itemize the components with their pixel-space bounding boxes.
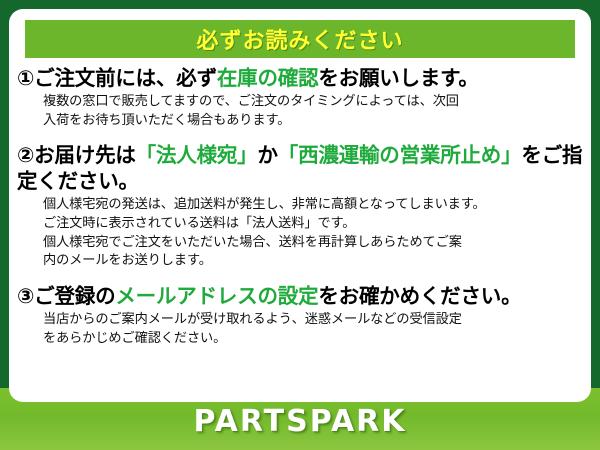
notice-item-1-heading-pre: ご注文前には、必ず [34, 66, 217, 90]
notice-item-1-body-line-2: 入荷をお待ち頂いただく場合もあります。 [43, 112, 583, 131]
notice-item-2-heading-pre: お届け先は [34, 143, 136, 167]
page-title: 必ずお読みください [196, 23, 403, 55]
notice-item-1-body-line-1: 複数の窓口で販売してますので、ご注文のタイミングによっては、次回 [43, 93, 583, 112]
notice-item-2-heading: ②お届け先は「法人様宛」か「西濃運輸の営業所止め」をご指定ください。 [17, 142, 583, 194]
notice-item-2-body-line-3: 個人様宅宛でご注文をいただいた場合、送料を再計算しあらためてご案 [43, 234, 583, 253]
notice-item-2-heading-highlight-2: 「西濃運輸の営業所止め」 [278, 143, 522, 167]
notice-item-1-body: 複数の窓口で販売してますので、ご注文のタイミングによっては、次回 入荷をお待ち頂… [43, 93, 583, 130]
notice-item-3-body-line-1: 当店からのご案内メールが受け取れるよう、迷惑メールなどの受信設定 [43, 311, 583, 330]
title-banner: 必ずお読みください [25, 20, 575, 58]
notice-item-2-heading-highlight: 「法人様宛」 [136, 143, 258, 167]
notice-item-3-heading: ③ご登録のメールアドレスの設定をお確かめください。 [17, 283, 583, 309]
notice-item-2-heading-mid: か [257, 143, 277, 167]
notice-item-1: ①ご注文前には、必ず在庫の確認をお願いします。 複数の窓口で販売してますので、ご… [9, 65, 591, 131]
notice-item-1-heading-post: をお願いします。 [318, 66, 478, 90]
notice-items: ①ご注文前には、必ず在庫の確認をお願いします。 複数の窓口で販売してますので、ご… [9, 65, 591, 349]
notice-item-1-heading: ①ご注文前には、必ず在庫の確認をお願いします。 [17, 65, 583, 91]
notice-card: 必ずお読みください ①ご注文前には、必ず在庫の確認をお願いします。 複数の窓口で… [9, 9, 591, 402]
notice-panel: PARTSPARK 必ずお読みください ①ご注文前には、必ず在庫の確認をお願いし… [0, 0, 600, 450]
notice-item-3-heading-pre: ご登録の [34, 284, 115, 308]
notice-item-2-body-line-2: ご注文時に表示されている送料は「法人送料」です。 [43, 215, 583, 234]
notice-item-3-body-line-2: をあらかじめご確認ください。 [43, 330, 583, 349]
notice-item-2-marker: ② [17, 143, 34, 167]
notice-item-3-heading-post: をお確かめください。 [318, 284, 521, 308]
footer-logo: PARTSPARK [0, 404, 600, 439]
notice-item-3-heading-highlight: メールアドレスの設定 [115, 284, 318, 308]
notice-item-2-body-line-1: 個人様宅宛の発送は、追加送料が発生し、非常に高額となってしまいます。 [43, 196, 583, 215]
notice-item-2: ②お届け先は「法人様宛」か「西濃運輸の営業所止め」をご指定ください。 個人様宅宛… [9, 142, 591, 271]
notice-item-1-heading-highlight: 在庫の確認 [217, 66, 319, 90]
notice-item-2-body: 個人様宅宛の発送は、追加送料が発生し、非常に高額となってしまいます。 ご注文時に… [43, 196, 583, 271]
notice-item-3-marker: ③ [17, 284, 34, 308]
notice-item-3: ③ご登録のメールアドレスの設定をお確かめください。 当店からのご案内メールが受け… [9, 283, 591, 349]
notice-item-1-marker: ① [17, 66, 34, 90]
notice-item-2-body-line-4: 内のメールをお送りします。 [43, 252, 583, 271]
notice-item-3-body: 当店からのご案内メールが受け取れるよう、迷惑メールなどの受信設定 をあらかじめご… [43, 311, 583, 348]
